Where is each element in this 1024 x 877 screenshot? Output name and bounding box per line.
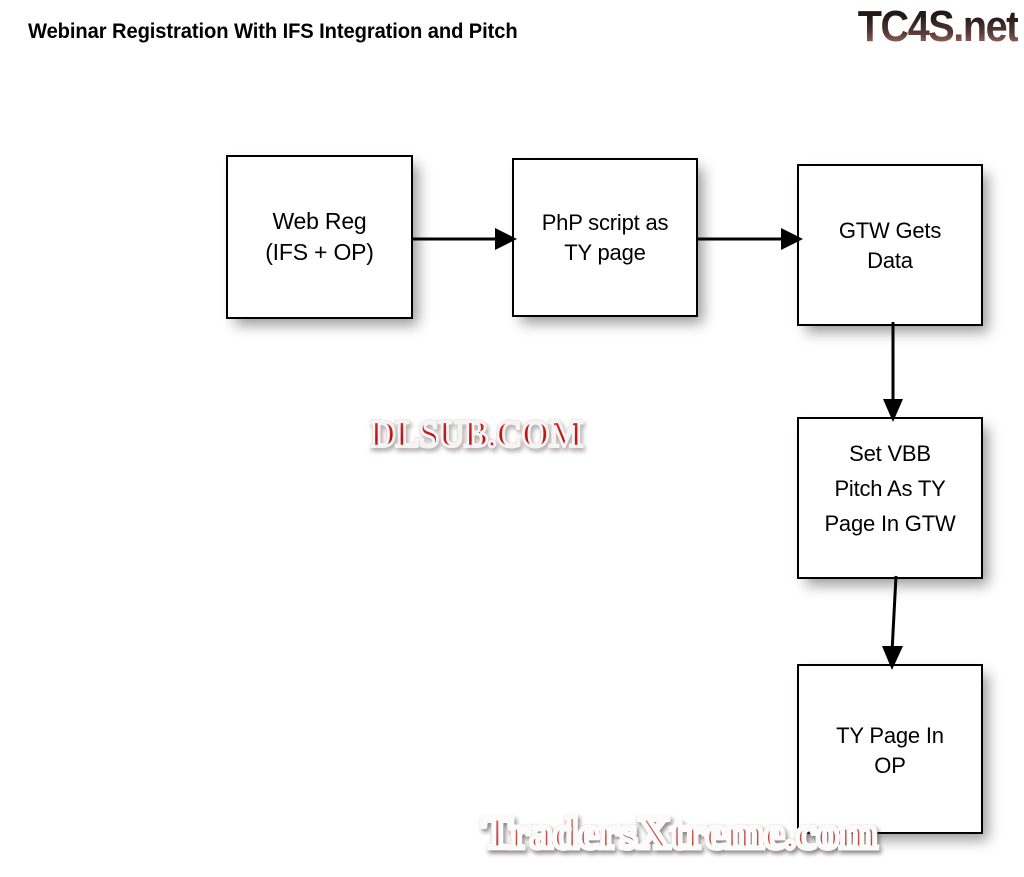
flow-node-label: GTW Gets Data bbox=[839, 214, 941, 276]
flow-node-label: Set VBB Pitch As TY Page In GTW bbox=[824, 436, 955, 541]
watermark-tc4s: TC4S.net bbox=[858, 2, 1018, 52]
flow-arrow-down-icon bbox=[872, 576, 914, 670]
watermark-tradersxtreme: TradersXtreme.com bbox=[482, 806, 878, 859]
flow-node-web-reg[interactable]: Web Reg (IFS + OP) bbox=[226, 155, 413, 319]
watermark-dlsub: DLSUB.COM bbox=[370, 412, 583, 456]
flow-arrow-down-icon bbox=[872, 322, 914, 422]
flow-arrow-right-icon bbox=[411, 222, 517, 256]
flow-node-label: Web Reg (IFS + OP) bbox=[265, 206, 374, 268]
flow-node-set-vbb-pitch[interactable]: Set VBB Pitch As TY Page In GTW bbox=[797, 417, 983, 579]
flow-node-label: TY Page In OP bbox=[836, 721, 944, 781]
flow-arrow-right-icon bbox=[697, 222, 803, 256]
flow-node-php-script[interactable]: PhP script as TY page bbox=[512, 158, 698, 317]
flow-node-gtw-gets-data[interactable]: GTW Gets Data bbox=[797, 164, 983, 326]
flow-node-label: PhP script as TY page bbox=[542, 208, 669, 268]
page-title: Webinar Registration With IFS Integratio… bbox=[28, 20, 518, 44]
diagram-canvas: Webinar Registration With IFS Integratio… bbox=[0, 0, 1024, 877]
